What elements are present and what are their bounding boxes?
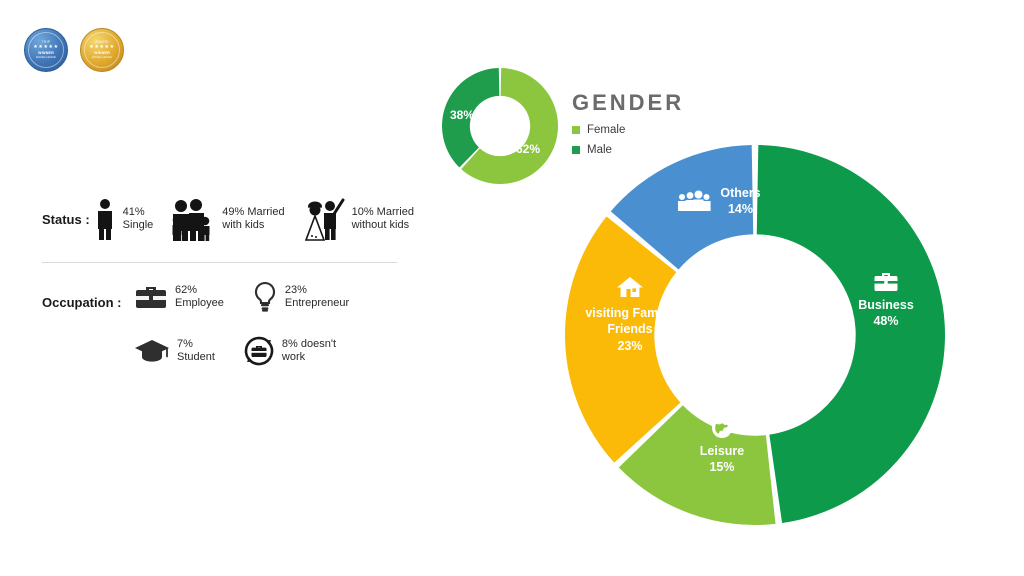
status-pct: 49% Married (222, 206, 284, 218)
globe-icon (711, 417, 733, 439)
status-item-text: 49% Married with kids (222, 206, 284, 233)
purpose-slice-business (757, 145, 945, 523)
occupation-pct: 8% doesn't (282, 338, 336, 350)
occupation-block: Occupation : 62% Employee (42, 281, 402, 367)
family-with-kids-icon (169, 197, 215, 241)
occupation-pct: 7% (177, 338, 193, 350)
purpose-name: Leisure (700, 444, 744, 458)
status-pct: 10% Married (352, 206, 414, 218)
purpose-name: visiting Family, (585, 306, 674, 320)
status-desc: with kids (222, 219, 264, 231)
purpose-label-visiting-family: visiting Family, Friends 23% (565, 275, 695, 354)
badge-bottom-text: EXCELLENCE (36, 56, 56, 60)
status-item-married-with-kids: 49% Married with kids (169, 197, 284, 241)
legend-swatch-female (572, 126, 580, 134)
no-work-briefcase-icon (243, 335, 275, 367)
lightbulb-icon (252, 281, 278, 313)
status-item-married-without-kids: 10% Married without kids (301, 196, 414, 242)
status-item-text: 41% Single (123, 206, 154, 233)
purpose-name: Others (720, 186, 760, 200)
status-label: Status : (42, 212, 90, 227)
house-icon (616, 275, 644, 299)
briefcase-icon (873, 271, 899, 293)
occupation-item-entrepreneur: 23% Entrepreneur (252, 281, 349, 313)
occupation-item-doesnt-work: 8% doesn't work (243, 335, 336, 367)
occupation-desc: Entrepreneur (285, 297, 349, 309)
occupation-desc: work (282, 351, 305, 363)
status-item-text: 10% Married without kids (352, 206, 414, 233)
gender-donut-chart: 62% 38% (440, 66, 560, 186)
gender-title: GENDER (572, 92, 684, 114)
status-desc: without kids (352, 219, 409, 231)
badge-stars: ★★★★★ (89, 45, 114, 50)
occupation-label: Occupation : (42, 281, 134, 310)
gold-award-badge: AWARD ★★★★★ WINNER EXCELLENCE (80, 28, 124, 72)
gender-label-male: 38% (450, 108, 474, 122)
occupation-pct: 62% (175, 284, 197, 296)
blue-award-badge: TRIP ★★★★★ WINNER EXCELLENCE (24, 28, 68, 72)
infographic-slide: { "logos": [ { "name": "blue-award-badge… (0, 0, 1024, 576)
gender-label-female: 62% (516, 142, 540, 156)
section-divider (42, 262, 397, 263)
gender-donut-svg (440, 66, 560, 186)
purpose-name: Business (858, 298, 914, 312)
graduation-cap-icon (134, 337, 170, 365)
occupation-desc: Student (177, 351, 215, 363)
occupation-item-text: 23% Entrepreneur (285, 284, 349, 311)
status-item-single: 41% Single (94, 198, 154, 240)
people-group-icon (677, 189, 711, 213)
occupation-row-2: 7% Student (134, 335, 349, 367)
badge-bottom-text: EXCELLENCE (92, 56, 112, 60)
badge-stars: ★★★★★ (33, 45, 58, 50)
purpose-label-others: Others 14% (659, 185, 779, 218)
occupation-item-employee: 62% Employee (134, 282, 224, 312)
wedding-couple-icon (301, 196, 345, 242)
purpose-label-business: Business 48% (831, 271, 941, 330)
legend-label-female: Female (587, 124, 625, 136)
occupation-items: 62% Employee 23% (134, 281, 349, 367)
legend-item-female: Female (572, 124, 684, 136)
occupation-item-text: 62% Employee (175, 284, 224, 311)
occupation-row-1: 62% Employee 23% (134, 281, 349, 313)
logo-group: TRIP ★★★★★ WINNER EXCELLENCE AWARD ★★★★★… (24, 28, 124, 72)
occupation-pct: 23% (285, 284, 307, 296)
purpose-pct: 48% (873, 314, 898, 328)
status-pct: 41% (123, 206, 145, 218)
briefcase-icon (134, 282, 168, 312)
travel-purpose-donut-chart: Business 48% Leisure 15% visiting Family… (563, 143, 947, 527)
occupation-desc: Employee (175, 297, 224, 309)
occupation-item-text: 7% Student (177, 338, 215, 365)
purpose-label-leisure: Leisure 15% (667, 417, 777, 476)
purpose-pct: 23% (617, 339, 642, 353)
occupation-item-student: 7% Student (134, 337, 215, 365)
status-row: Status : 41% Single (42, 196, 402, 242)
purpose-name2: Friends (607, 322, 652, 336)
purpose-pct: 14% (728, 202, 753, 216)
demographics-panel: Status : 41% Single (42, 196, 402, 367)
single-person-icon (94, 198, 116, 240)
status-desc: Single (123, 219, 154, 231)
occupation-item-text: 8% doesn't work (282, 338, 336, 365)
purpose-pct: 15% (709, 460, 734, 474)
